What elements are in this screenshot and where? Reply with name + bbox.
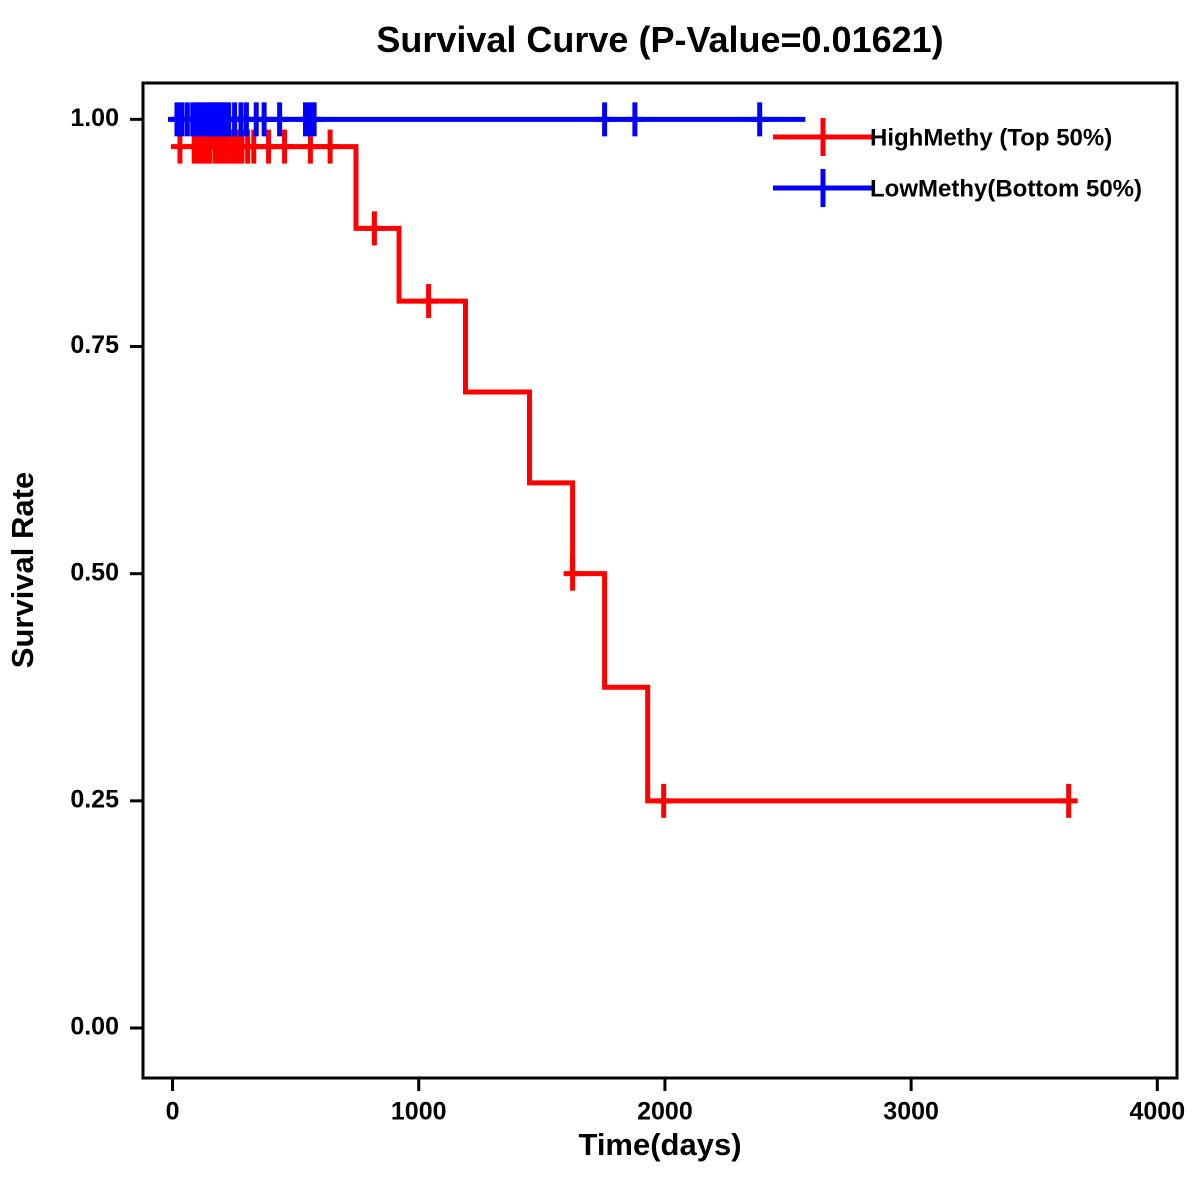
series-0	[171, 119, 1078, 818]
censor-mark	[564, 557, 582, 591]
chart-canvas: Survival Curve (P-Value=0.01621) 0.000.2…	[0, 0, 1200, 1200]
legend-entry-1[interactable]: LowMethy(Bottom 50%)	[773, 169, 1142, 207]
censor-mark	[365, 211, 383, 245]
legend-label: LowMethy(Bottom 50%)	[870, 175, 1142, 202]
censor-mark	[626, 102, 644, 136]
censor-mark	[1060, 784, 1078, 818]
x-tick-label: 0	[166, 1098, 180, 1126]
y-tick-label: 0.75	[70, 331, 119, 359]
y-axis-title: Survival Rate	[5, 472, 40, 668]
y-tick-label: 1.00	[70, 104, 119, 132]
x-axis-title: Time(days)	[578, 1127, 741, 1162]
y-axis-ticks: 0.000.250.500.751.00	[70, 104, 143, 1041]
survival-curve-figure: Survival Curve (P-Value=0.01621) 0.000.2…	[0, 0, 1200, 1200]
x-tick-label: 3000	[883, 1098, 939, 1126]
x-tick-label: 2000	[637, 1098, 693, 1126]
plot-panel-border	[143, 83, 1177, 1078]
censor-mark	[655, 784, 673, 818]
y-tick-label: 0.00	[70, 1013, 119, 1041]
chart-title: Survival Curve (P-Value=0.01621)	[376, 19, 943, 60]
x-tick-label: 1000	[391, 1098, 447, 1126]
censor-mark	[420, 284, 438, 318]
censor-mark	[596, 102, 614, 136]
series-layer	[168, 102, 1078, 818]
legend-entry-0[interactable]: HighMethy (Top 50%)	[773, 118, 1112, 156]
x-axis-ticks: 01000200030004000	[166, 1078, 1186, 1126]
censor-mark	[751, 102, 769, 136]
x-tick-label: 4000	[1129, 1098, 1185, 1126]
y-tick-label: 0.25	[70, 785, 119, 813]
y-tick-label: 0.50	[70, 558, 119, 586]
km-step-line	[173, 119, 1070, 801]
legend-label: HighMethy (Top 50%)	[870, 124, 1112, 151]
series-1	[168, 102, 805, 136]
chart-legend: HighMethy (Top 50%)LowMethy(Bottom 50%)	[773, 118, 1142, 207]
censor-mark	[321, 130, 339, 164]
